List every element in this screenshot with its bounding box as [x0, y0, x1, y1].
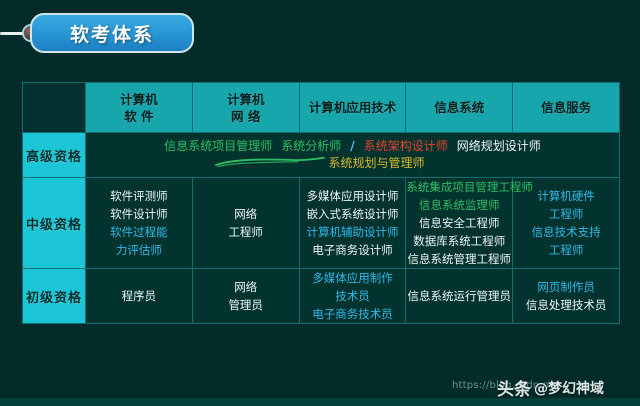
column-header-line2: 网 络 — [193, 108, 299, 125]
qualification-matrix-table: 计算机 软 件 计算机 网 络 计算机应用技术 信息系统 信息服务 高级资格 — [22, 82, 620, 324]
column-header-line1: 信息服务 — [513, 99, 619, 116]
table-header: 计算机 软 件 计算机 网 络 计算机应用技术 信息系统 信息服务 — [23, 83, 620, 133]
column-header-computer-application: 计算机应用技术 — [299, 83, 406, 133]
cell-junior-computer-network: 网络 管理员 — [192, 269, 299, 324]
cell-junior-computer-application: 多媒体应用制作 技术员 电子商务技术员 — [299, 269, 406, 324]
table-row-junior: 初级资格 程序员 网络 管理员 多媒体应用制作 技术员 电子商务技术员 信息系统… — [23, 269, 620, 324]
row-header-junior: 初级资格 — [23, 269, 86, 324]
table-row-advanced: 高级资格 信息系统项目管理师 系统分析师 / 系统架构设计师 网络规划设计师 系… — [23, 133, 620, 178]
cert-multimedia-application-designer: 多媒体应用设计师 — [300, 187, 406, 205]
cert-it-support-engineer-2: 工程师 — [513, 241, 619, 259]
watermark-brand: 头条 @梦幻神域 — [497, 375, 604, 400]
cert-system-planning-and-management: 系统规划与管理师 — [328, 156, 424, 170]
column-header-line1: 计算机应用技术 — [300, 99, 406, 116]
table-body: 高级资格 信息系统项目管理师 系统分析师 / 系统架构设计师 网络规划设计师 系… — [23, 133, 620, 324]
cell-intermediate-computer-software: 软件评测师 软件设计师 软件过程能 力评估师 — [86, 178, 193, 269]
cert-multimedia-production-technician-1: 多媒体应用制作 — [300, 269, 406, 287]
cert-system-architect: 系统架构设计师 — [364, 138, 448, 155]
cert-computer-hardware-engineer-2: 工程师 — [513, 205, 619, 223]
cert-network-engineer-1: 网络 — [193, 205, 299, 223]
cert-information-system-project-manager: 信息系统项目管理师 — [164, 138, 272, 155]
cert-multimedia-production-technician-2: 技术员 — [300, 287, 406, 305]
advanced-qualifications-cell: 信息系统项目管理师 系统分析师 / 系统架构设计师 网络规划设计师 系统规划与管… — [86, 133, 620, 178]
bottom-edge-strip — [0, 398, 640, 406]
cert-computer-aided-designer: 计算机辅助设计师 — [300, 223, 406, 241]
cert-software-process-ability-2: 力评估师 — [86, 241, 192, 259]
watermark-brand-name: @梦幻神域 — [534, 378, 604, 398]
column-header-line2: 软 件 — [86, 108, 192, 125]
column-header-information-system: 信息系统 — [406, 83, 513, 133]
row-header-intermediate: 中级资格 — [23, 178, 86, 269]
title-banner: 软考体系 — [30, 13, 194, 53]
cert-system-analyst: 系统分析师 — [281, 138, 341, 155]
cert-software-designer: 软件设计师 — [86, 205, 192, 223]
cert-information-system-management-engineer: 信息系统管理工程师 — [406, 250, 512, 268]
advanced-line-2: 系统规划与管理师 — [86, 155, 619, 172]
cert-database-system-engineer: 数据库系统工程师 — [406, 232, 512, 250]
advanced-line-1: 信息系统项目管理师 系统分析师 / 系统架构设计师 网络规划设计师 — [86, 138, 619, 155]
cert-information-system-operation-administrator: 信息系统运行管理员 — [406, 287, 512, 305]
cert-programmer: 程序员 — [86, 287, 192, 305]
cert-ecommerce-technician: 电子商务技术员 — [300, 305, 406, 323]
column-header-line1: 计算机 — [86, 91, 192, 108]
table-header-row: 计算机 软 件 计算机 网 络 计算机应用技术 信息系统 信息服务 — [23, 83, 620, 133]
cert-it-support-engineer-1: 信息技术支持 — [513, 223, 619, 241]
cell-intermediate-information-system: 系统集成项目管理工程师 信息系统监理师 信息安全工程师 数据库系统工程师 信息系… — [406, 178, 513, 269]
cert-software-evaluator: 软件评测师 — [86, 187, 192, 205]
title-area: 软考体系 — [0, 6, 640, 54]
cert-network-administrator-1: 网络 — [193, 278, 299, 296]
cert-network-administrator-2: 管理员 — [193, 296, 299, 314]
cert-web-page-producer: 网页制作员 — [513, 278, 619, 296]
column-header-information-service: 信息服务 — [513, 83, 620, 133]
separator-slash: / — [350, 138, 354, 155]
cell-junior-information-service: 网页制作员 信息处理技术员 — [513, 269, 620, 324]
column-header-line1: 信息系统 — [406, 99, 512, 116]
cert-ecommerce-designer: 电子商务设计师 — [300, 241, 406, 259]
cert-information-security-engineer: 信息安全工程师 — [406, 214, 512, 232]
table-corner-cell — [23, 83, 86, 133]
cert-software-process-ability-1: 软件过程能 — [86, 223, 192, 241]
column-header-line1: 计算机 — [193, 91, 299, 108]
cert-embedded-system-designer: 嵌入式系统设计师 — [300, 205, 406, 223]
cell-intermediate-computer-network: 网络 工程师 — [192, 178, 299, 269]
column-header-computer-software: 计算机 软 件 — [86, 83, 193, 133]
cert-system-integration-project-manager: 系统集成项目管理工程师 — [406, 178, 512, 196]
cell-junior-information-system: 信息系统运行管理员 — [406, 269, 513, 324]
cert-information-system-supervisor: 信息系统监理师 — [406, 196, 512, 214]
page-title: 软考体系 — [70, 20, 154, 47]
cert-information-processing-technician: 信息处理技术员 — [513, 296, 619, 314]
cert-network-engineer-2: 工程师 — [193, 223, 299, 241]
table-row-intermediate: 中级资格 软件评测师 软件设计师 软件过程能 力评估师 网络 工程师 多媒体应用… — [23, 178, 620, 269]
cert-network-planning-designer: 网络规划设计师 — [457, 138, 541, 155]
cell-intermediate-computer-application: 多媒体应用设计师 嵌入式系统设计师 计算机辅助设计师 电子商务设计师 — [299, 178, 406, 269]
cell-junior-computer-software: 程序员 — [86, 269, 193, 324]
toutiao-logo-icon: 头条 — [497, 375, 531, 400]
row-header-advanced: 高级资格 — [23, 133, 86, 178]
column-header-computer-network: 计算机 网 络 — [192, 83, 299, 133]
